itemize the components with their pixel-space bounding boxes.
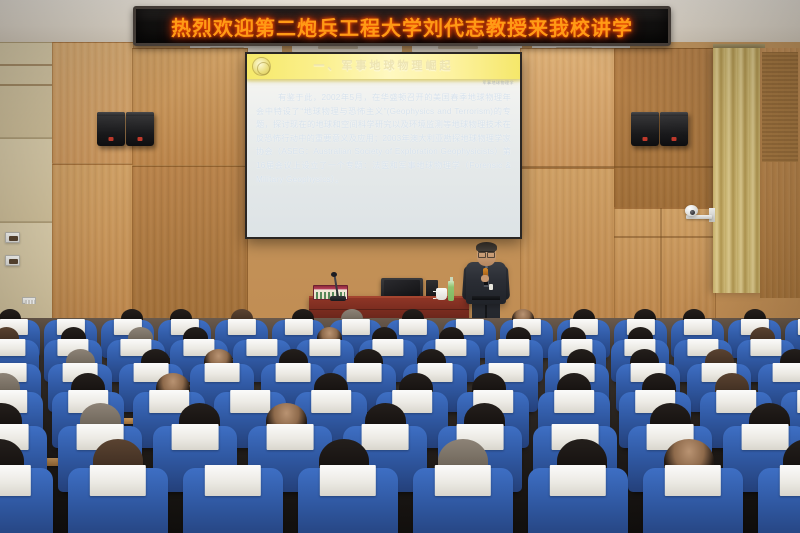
slide-footer-note: 军事地球物理学	[483, 80, 515, 86]
wall-seam-left-a	[0, 64, 54, 66]
seat-headrest-cover	[683, 319, 711, 334]
paper-cup	[436, 288, 447, 300]
seat-headrest-cover	[742, 424, 789, 451]
slide-title: 一、军事地球物理崛起	[247, 54, 520, 79]
lecture-hall-photo: 热烈欢迎第二炮兵工程大学刘代志教授来我校讲学 一、军事地球物理崛起 军事地球物理…	[0, 0, 800, 533]
auditorium-seat[interactable]	[531, 470, 625, 533]
slide-header-band: 一、军事地球物理崛起	[247, 54, 520, 79]
seat-headrest-cover	[554, 390, 594, 413]
speaker-top-left-a	[97, 112, 125, 116]
wall-panel-left-lower	[52, 164, 134, 334]
acoustic-panel-left-top	[0, 42, 54, 138]
presenter-badge	[489, 284, 493, 290]
wall-seam-left-b	[0, 84, 54, 86]
auditorium-seat[interactable]	[301, 470, 395, 533]
projection-screen: 一、军事地球物理崛起 军事地球物理学 有鉴于此，2002年5月，在华盛顿召开的美…	[247, 54, 520, 237]
seat-headrest-cover	[267, 424, 314, 451]
projection-screen-frame: 一、军事地球物理崛起 军事地球物理学 有鉴于此，2002年5月，在华盛顿召开的美…	[245, 52, 522, 239]
water-bottle	[448, 281, 454, 301]
university-emblem-icon	[252, 57, 271, 76]
seat-headrest-cover	[246, 339, 277, 356]
led-banner-text: 热烈欢迎第二炮兵工程大学刘代志教授来我校讲学	[171, 12, 633, 41]
wall-speaker-left-a	[97, 112, 125, 146]
seat-headrest-cover	[716, 390, 756, 413]
seat-headrest-cover	[205, 465, 261, 496]
acoustic-panel-left-mid	[0, 138, 54, 222]
light-switch[interactable]	[22, 297, 36, 304]
wall-panel-center-left-a	[132, 48, 248, 166]
auditorium-seat[interactable]	[416, 470, 510, 533]
speaker-top-right-b	[660, 112, 688, 116]
seat-headrest-cover	[284, 319, 312, 334]
auditorium-seat[interactable]	[646, 470, 740, 533]
desk-edge-line	[309, 309, 469, 310]
wall-speaker-left-b	[126, 112, 154, 146]
seat-headrest-cover	[498, 339, 529, 356]
seat-headrest-cover	[0, 465, 31, 496]
wall-panel-right-upper	[520, 48, 616, 168]
wall-speaker-right-a	[631, 112, 659, 146]
speaker-top-left-b	[126, 112, 154, 116]
seat-headrest-cover	[398, 319, 426, 334]
seat-headrest-cover	[362, 424, 409, 451]
seat-headrest-cover	[780, 465, 800, 496]
seat-headrest-cover	[750, 339, 781, 356]
slide-paragraph: 有鉴于此，2002年5月，在华盛顿召开的美国春季地球物理年会中特设了“地球物理与…	[256, 93, 511, 184]
power-outlet-upper[interactable]	[5, 232, 20, 243]
seat-headrest-cover	[341, 319, 369, 334]
presenter-belt	[472, 296, 500, 300]
wall-seam-right-b	[614, 236, 716, 238]
seat-headrest-cover	[435, 465, 491, 496]
auditorium-seat[interactable]	[71, 470, 165, 533]
seat-headrest-cover	[665, 465, 721, 496]
wall-speaker-right-b	[660, 112, 688, 146]
seat-headrest-cover	[311, 390, 351, 413]
seat-headrest-cover	[347, 363, 382, 382]
wall-seam-vertical-right	[660, 208, 662, 334]
presenter-glasses-icon	[478, 251, 495, 255]
seat-headrest-cover	[230, 390, 270, 413]
ceiling-vent-3	[438, 46, 478, 49]
seat-headrest-cover	[550, 465, 606, 496]
seat-headrest-cover	[276, 363, 311, 382]
wall-panel-center-left-b	[132, 166, 248, 334]
seat-headrest-cover	[773, 363, 800, 382]
wall-panel-right-lower	[520, 168, 616, 334]
seat-headrest-cover	[227, 319, 255, 334]
seat-headrest-cover	[320, 465, 376, 496]
window-curtain	[713, 48, 765, 293]
auditorium-seat[interactable]	[0, 470, 50, 533]
wall-grill-right	[762, 52, 798, 162]
seat-headrest-cover	[0, 339, 26, 356]
slide-body-text: 有鉴于此，2002年5月，在华盛顿召开的美国春季地球物理年会中特设了“地球物理与…	[247, 79, 520, 186]
seat-headrest-cover	[309, 339, 340, 356]
microphone-head-icon	[331, 272, 337, 277]
camera-lens-icon	[690, 210, 695, 215]
presenter-hand	[481, 275, 489, 282]
led-welcome-banner: 热烈欢迎第二炮兵工程大学刘代志教授来我校讲学	[133, 6, 671, 46]
ceiling-vent-2	[318, 46, 358, 49]
seat-headrest-cover	[90, 465, 146, 496]
power-outlet-lower[interactable]	[5, 255, 20, 266]
seat-headrest-cover	[172, 424, 219, 451]
auditorium-seat[interactable]	[186, 470, 280, 533]
speaker-top-right-a	[631, 112, 659, 116]
wall-seam-right-a	[520, 166, 716, 168]
seat-headrest-cover	[205, 363, 240, 382]
auditorium-seat[interactable]	[761, 470, 800, 533]
